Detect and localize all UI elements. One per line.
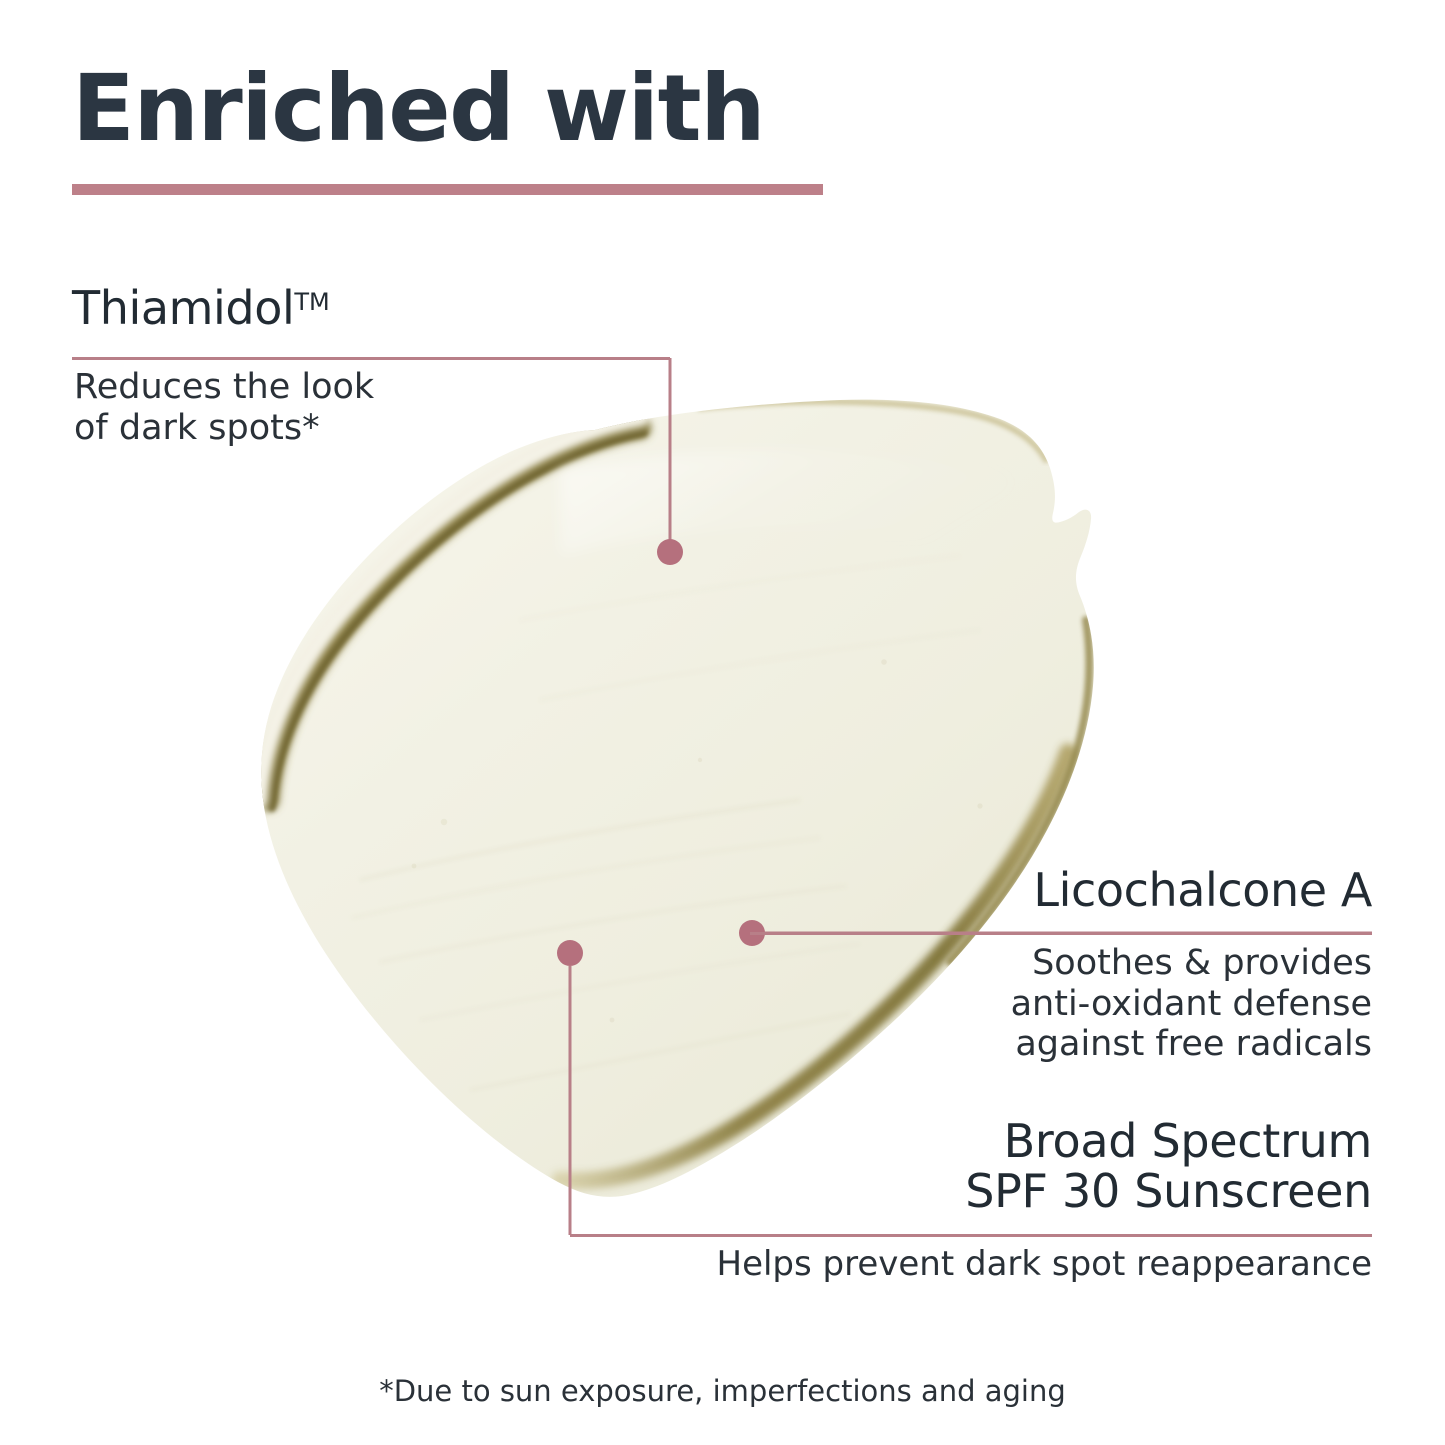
cream-swatch-edge-top (700, 402, 1046, 460)
callout-thiamidol-title-text: Thiamidol (72, 281, 294, 335)
callout-spf-title: Broad Spectrum SPF 30 Sunscreen (672, 1117, 1372, 1216)
infographic-canvas: Enriched with ThiamidolTM Reduces the lo… (0, 0, 1445, 1445)
callout-licochalcone-title: Licochalcone A (752, 866, 1372, 916)
callout-spf-rule (570, 1234, 1372, 1237)
callout-thiamidol-body-line-2: of dark spots* (74, 408, 504, 449)
callout-licochalcone-body-line-2: anti-oxidant defense (752, 984, 1372, 1025)
page-title: Enriched with (72, 62, 872, 156)
callout-thiamidol-body-line-1: Reduces the look (74, 367, 504, 408)
callout-spf-title-line-1: Broad Spectrum (672, 1117, 1372, 1167)
callout-spf-title-line-2: SPF 30 Sunscreen (672, 1167, 1372, 1217)
callout-licochalcone-body: Soothes & provides anti-oxidant defense … (752, 943, 1372, 1065)
callout-thiamidol-body: Reduces the look of dark spots* (74, 367, 504, 448)
cream-swatch-image (0, 0, 1445, 1445)
callout-thiamidol-title: ThiamidolTM (72, 284, 672, 334)
callout-thiamidol-rule (72, 357, 670, 360)
cream-swatch-edge-line (272, 433, 644, 808)
cream-swatch-rim-highlight (258, 417, 640, 800)
callout-spf: Broad Spectrum SPF 30 Sunscreen (672, 1117, 1372, 1216)
cream-swatch-body (261, 400, 1093, 1197)
footnote: *Due to sun exposure, imperfections and … (0, 1374, 1445, 1408)
callout-licochalcone: Licochalcone A (752, 866, 1372, 916)
callout-spf-body: Helps prevent dark spot reappearance (672, 1245, 1372, 1284)
callout-licochalcone-body-line-1: Soothes & provides (752, 943, 1372, 984)
callout-thiamidol: ThiamidolTM (72, 284, 672, 334)
leader-dot-spf (557, 940, 583, 966)
cream-swatch-sheen (560, 450, 1010, 560)
title-underline-rule (72, 184, 823, 195)
trademark-icon: TM (294, 288, 329, 316)
callout-leader-lines (0, 0, 1445, 1445)
leader-dot-thiamidol (657, 539, 683, 565)
callout-licochalcone-rule (750, 932, 1372, 935)
callout-spf-body-line-1: Helps prevent dark spot reappearance (672, 1245, 1372, 1284)
cream-swatch-edge-upper-left (268, 428, 640, 800)
callout-licochalcone-body-line-3: against free radicals (752, 1024, 1372, 1065)
page-title-block: Enriched with (72, 62, 872, 156)
